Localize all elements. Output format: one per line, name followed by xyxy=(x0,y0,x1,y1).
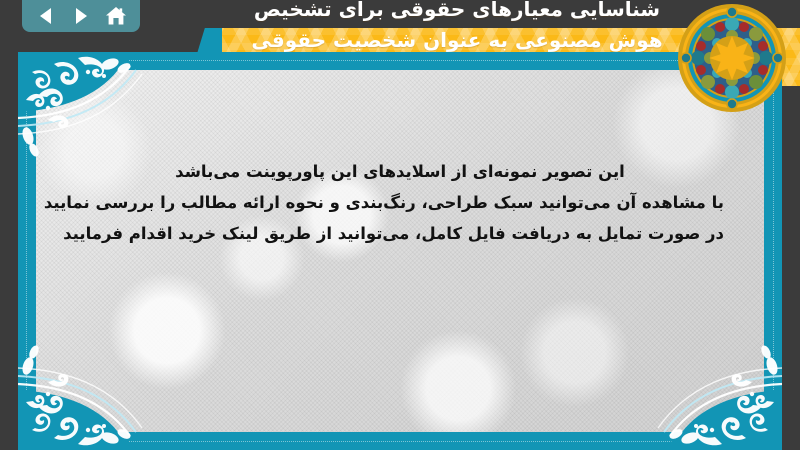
slide-content-area: این تصویر نمونه‌ای از اسلایدهای این پاور… xyxy=(36,70,764,432)
ornamental-medallion xyxy=(676,2,788,114)
home-icon[interactable] xyxy=(105,5,127,27)
slide-viewer: شناسایی معیارهای حقوقی برای تشخیص هوش مص… xyxy=(0,0,800,450)
body-line-2: با مشاهده آن می‌توانید سبک طراحی، رنگ‌بن… xyxy=(76,187,724,218)
next-triangle-icon[interactable] xyxy=(70,5,92,27)
navigation-toolbar xyxy=(22,0,140,32)
title-line-1: شناسایی معیارهای حقوقی برای تشخیص xyxy=(214,0,700,25)
body-line-3: در صورت تمایل به دریافت فایل کامل، می‌تو… xyxy=(76,218,724,249)
slide-panel: این تصویر نمونه‌ای از اسلایدهای این پاور… xyxy=(18,52,782,450)
body-line-1: این تصویر نمونه‌ای از اسلایدهای این پاور… xyxy=(76,156,724,187)
slide-body-text: این تصویر نمونه‌ای از اسلایدهای این پاور… xyxy=(76,156,724,249)
prev-triangle-icon[interactable] xyxy=(35,5,57,27)
